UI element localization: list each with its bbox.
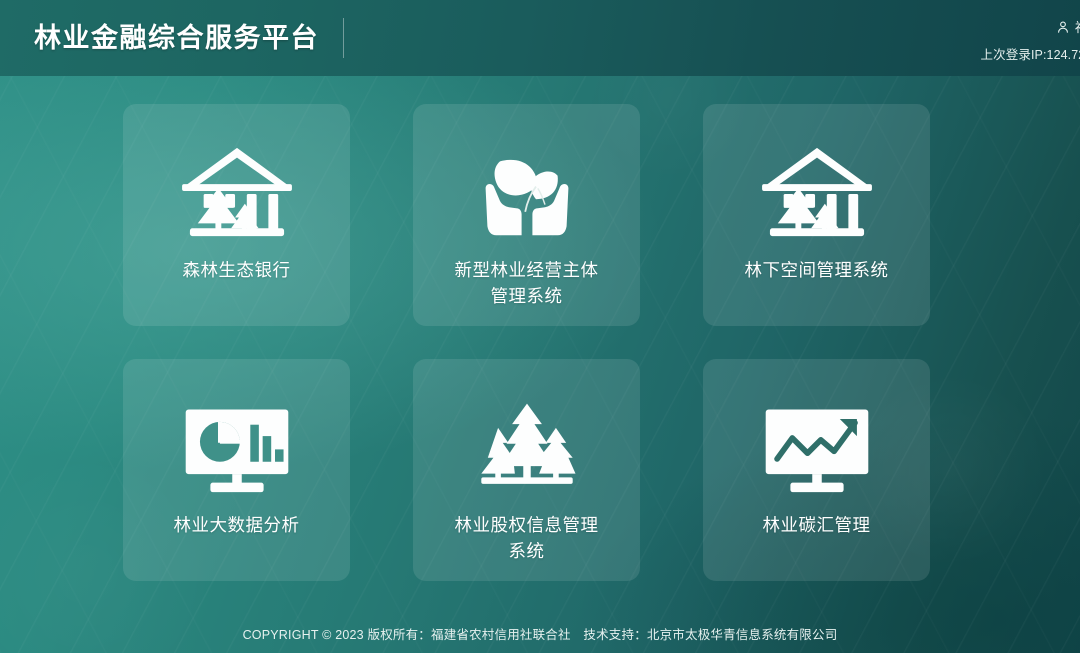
monitor-charts-icon [180, 395, 294, 499]
module-card-label: 林下空间管理系统 [721, 258, 913, 284]
module-card-label: 林业碳汇管理 [721, 513, 913, 539]
page-title: 林业金融综合服务平台 [34, 25, 319, 52]
app-header: 林业金融综合服务平台 福 上次登录IP:124.72.2 [0, 0, 1080, 76]
header-divider [343, 18, 344, 58]
module-card-label: 林业股权信息管理系统 [431, 513, 623, 565]
module-card-forest-eco-bank[interactable]: 森林生态银行 [123, 104, 350, 326]
footer-copyright: COPYRIGHT © 2023 版权所有：福建省农村信用社联合社 技术支持：北… [0, 624, 1080, 643]
user-info: 福 上次登录IP:124.72.2 [981, 20, 1080, 63]
user-name: 福 [1075, 21, 1080, 34]
bank-with-trees-icon [178, 140, 296, 244]
three-pine-trees-icon [471, 395, 583, 499]
module-card-label: 新型林业经营主体管理系统 [431, 258, 623, 310]
monitor-trend-up-icon [760, 395, 874, 499]
app-root: 林业金融综合服务平台 福 上次登录IP:124.72.2 [0, 0, 1080, 653]
last-login-ip: 上次登录IP:124.72.2 [981, 44, 1080, 63]
user-account[interactable]: 福 [981, 20, 1080, 34]
bank-with-trees-icon [758, 140, 876, 244]
module-card-label: 林业大数据分析 [141, 513, 333, 539]
user-icon [1056, 20, 1070, 34]
module-grid: 森林生态银行 [123, 104, 929, 581]
module-card-big-data-analysis[interactable]: 林业大数据分析 [123, 359, 350, 581]
hands-holding-leaves-icon [473, 140, 581, 244]
module-card-forestry-equity-info[interactable]: 林业股权信息管理系统 [413, 359, 640, 581]
module-card-carbon-sink-management[interactable]: 林业碳汇管理 [703, 359, 930, 581]
module-card-understory-space[interactable]: 林下空间管理系统 [703, 104, 930, 326]
module-card-new-forestry-entity[interactable]: 新型林业经营主体管理系统 [413, 104, 640, 326]
brand: 林业金融综合服务平台 [34, 18, 344, 58]
module-card-label: 森林生态银行 [141, 258, 333, 284]
